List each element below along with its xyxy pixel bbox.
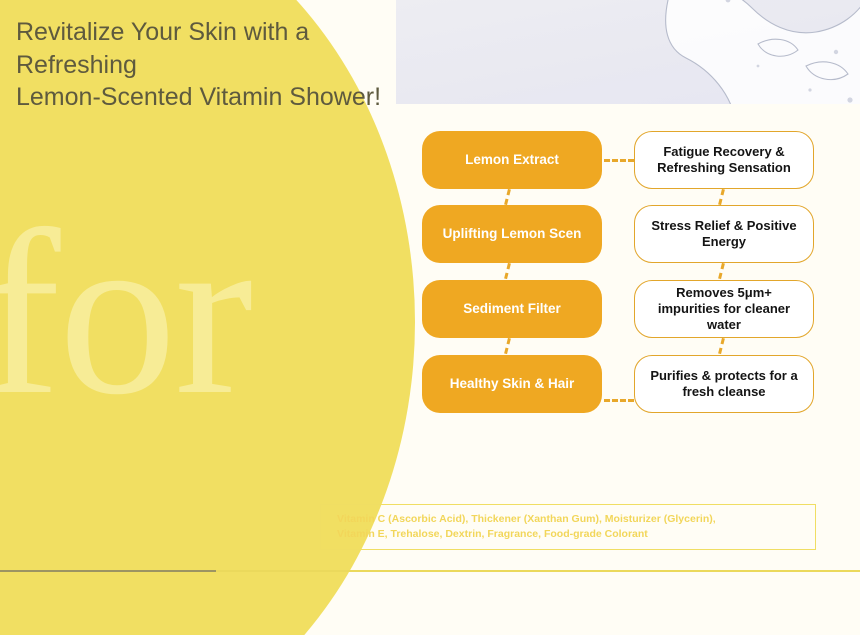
connector-vertical-right-0 <box>718 189 725 205</box>
connector-horizontal-0 <box>604 159 634 162</box>
benefit-node-3[interactable]: Purifies & protects for a fresh cleanse <box>634 355 814 413</box>
connector-vertical-left-1 <box>504 263 511 279</box>
footer-divider-overlay <box>0 570 216 572</box>
benefit-node-2[interactable]: Removes 5μm+ impurities for cleaner wate… <box>634 280 814 338</box>
flow-row: Uplifting Lemon Scen Stress Relief & Pos… <box>418 205 818 263</box>
flow-row: Lemon Extract Fatigue Recovery & Refresh… <box>418 131 818 189</box>
water-splash-icon <box>640 0 860 104</box>
slide-canvas: for Revitalize Your Skin with a Refreshi… <box>0 0 860 635</box>
ingredients-text: Vitamin C (Ascorbic Acid), Thickener (Xa… <box>337 512 716 542</box>
background-watermark-text: for <box>0 196 251 432</box>
connector-horizontal-3 <box>604 399 634 402</box>
feature-node-2[interactable]: Sediment Filter <box>422 280 602 338</box>
feature-node-0[interactable]: Lemon Extract <box>422 131 602 189</box>
flow-row: Sediment Filter Removes 5μm+ impurities … <box>418 280 818 338</box>
flow-row: Healthy Skin & Hair Purifies & protects … <box>418 355 818 413</box>
ingredients-panel: Vitamin C (Ascorbic Acid), Thickener (Xa… <box>320 504 816 550</box>
water-splash-banner <box>396 0 860 104</box>
page-title: Revitalize Your Skin with a Refreshing L… <box>16 16 390 114</box>
feature-node-3[interactable]: Healthy Skin & Hair <box>422 355 602 413</box>
connector-vertical-right-2 <box>718 338 725 354</box>
connector-vertical-left-2 <box>504 338 511 354</box>
feature-benefit-flow: Lemon Extract Fatigue Recovery & Refresh… <box>418 131 818 421</box>
connector-vertical-right-1 <box>718 263 725 279</box>
connector-vertical-left-0 <box>504 189 511 205</box>
benefit-node-0[interactable]: Fatigue Recovery & Refreshing Sensation <box>634 131 814 189</box>
feature-node-1[interactable]: Uplifting Lemon Scen <box>422 205 602 263</box>
benefit-node-1[interactable]: Stress Relief & Positive Energy <box>634 205 814 263</box>
